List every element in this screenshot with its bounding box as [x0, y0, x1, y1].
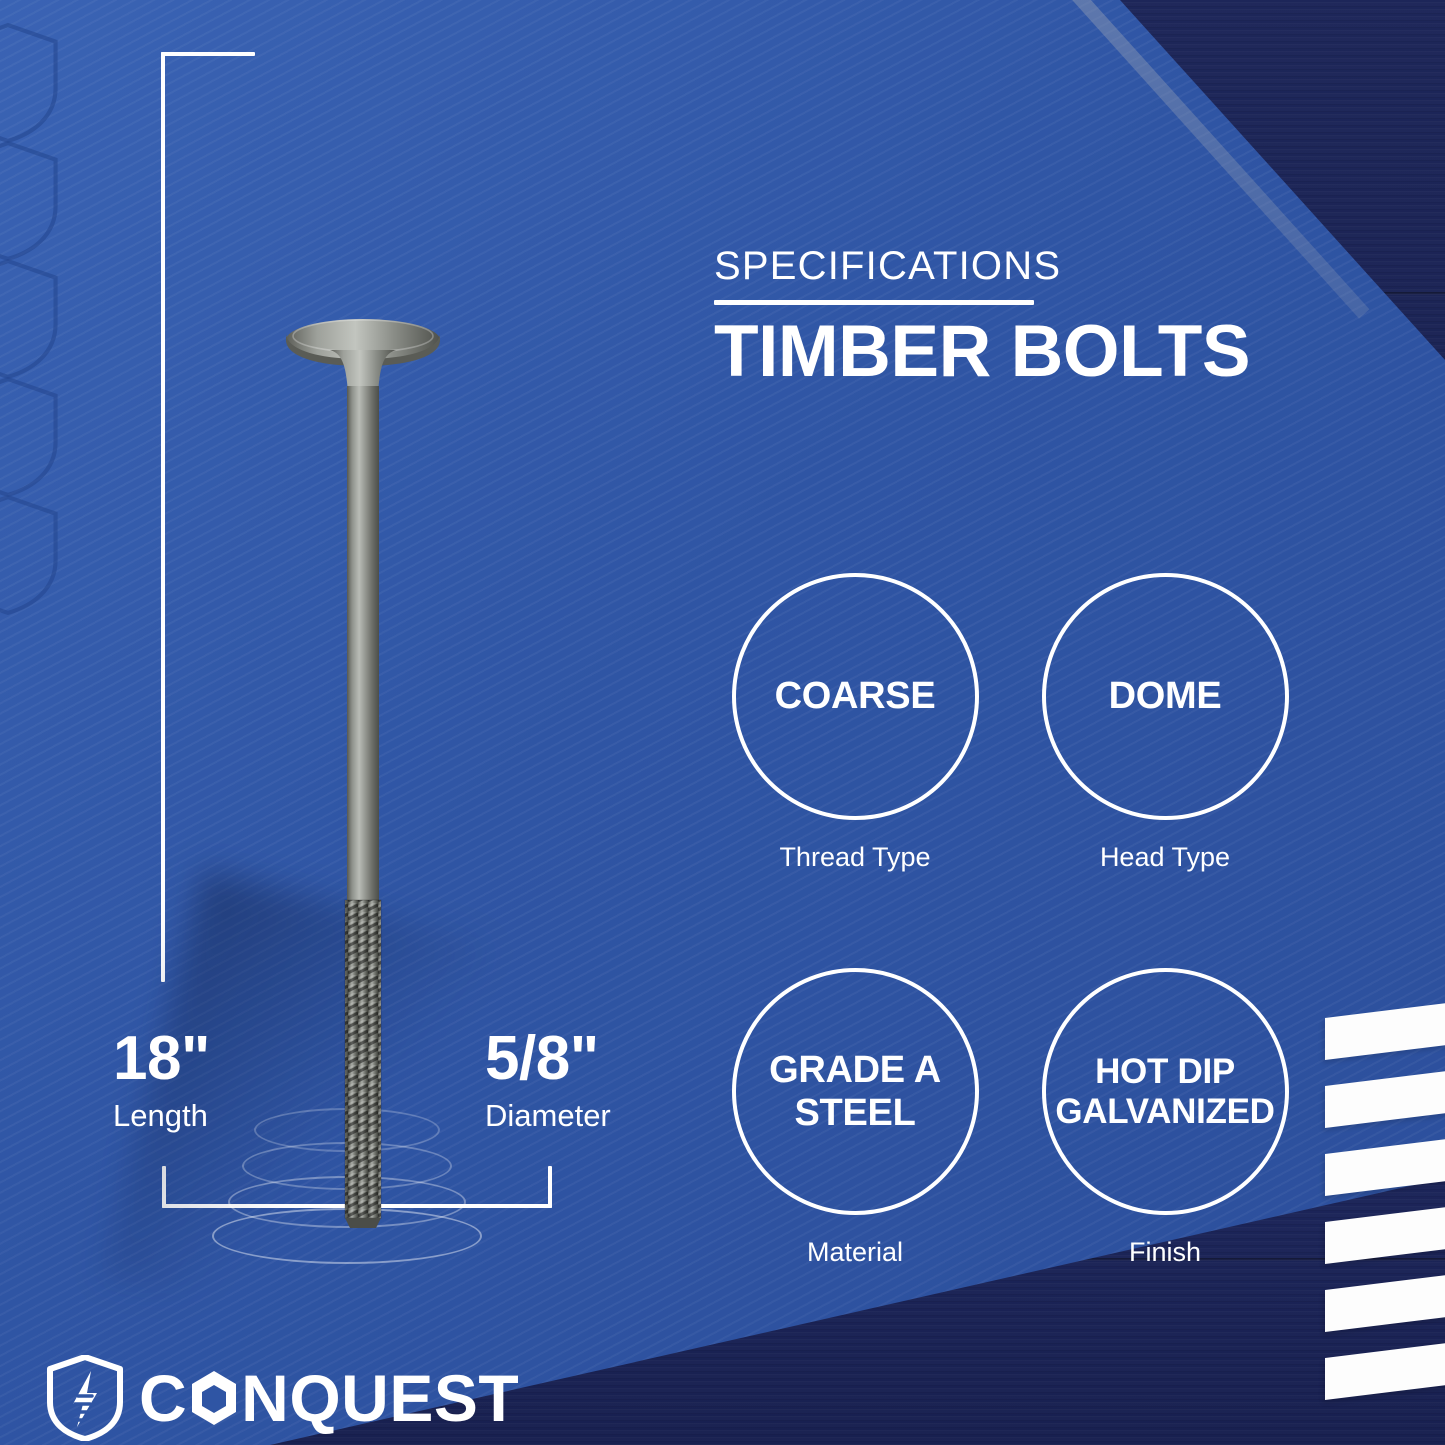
length-guide-line	[161, 52, 165, 982]
shield-watermark-icon	[0, 376, 60, 498]
spec-circle: COARSE	[732, 573, 979, 820]
length-value: 18"	[113, 1028, 210, 1090]
spec-value: DOME	[1099, 675, 1232, 718]
spec-circle: DOME	[1042, 573, 1289, 820]
brand-wordmark: C NQUEST	[139, 1365, 519, 1431]
kicker-text: SPECIFICATIONS	[714, 246, 1314, 286]
shield-watermark-icon	[0, 258, 60, 380]
header-block: SPECIFICATIONS TIMBER BOLTS	[714, 246, 1314, 389]
spec-thread-type: COARSE Thread Type	[700, 573, 1010, 873]
bolt-vector	[268, 300, 458, 1230]
spec-label: Material	[807, 1237, 903, 1268]
header-rule	[714, 300, 1034, 305]
shield-watermark-icon	[0, 494, 60, 616]
diameter-label: Diameter	[485, 1098, 611, 1134]
diameter-guide-tick-right	[548, 1166, 552, 1208]
spec-row: COARSE Thread Type DOME Head Type	[700, 573, 1320, 873]
spec-label: Finish	[1129, 1237, 1201, 1268]
spec-finish: HOT DIP GALVANIZED Finish	[1010, 968, 1320, 1268]
decorative-bar	[1325, 1002, 1445, 1060]
brand-logo: C NQUEST	[47, 1355, 519, 1441]
decorative-bar	[1325, 1274, 1445, 1332]
spec-material: GRADE A STEEL Material	[700, 968, 1010, 1268]
decorative-bars	[1325, 1010, 1445, 1430]
decorative-bar	[1325, 1138, 1445, 1196]
length-label: Length	[113, 1098, 210, 1134]
spec-circle: GRADE A STEEL	[732, 968, 979, 1215]
shield-watermark-icon	[0, 22, 60, 144]
spec-value: HOT DIP GALVANIZED	[1045, 1052, 1284, 1130]
hex-nut-icon	[188, 1369, 240, 1427]
length-guide-tick	[161, 52, 255, 56]
specifications-grid: COARSE Thread Type DOME Head Type GRADE …	[700, 573, 1320, 1268]
decorative-bar	[1325, 1070, 1445, 1128]
diameter-caption: 5/8" Diameter	[485, 1028, 611, 1134]
spec-value: COARSE	[765, 675, 946, 718]
brand-name-part2: NQUEST	[241, 1365, 519, 1431]
shield-bolt-icon	[47, 1355, 123, 1441]
spec-label: Thread Type	[779, 842, 930, 873]
page-title: TIMBER BOLTS	[714, 315, 1314, 389]
diameter-value: 5/8"	[485, 1028, 611, 1090]
length-caption: 18" Length	[113, 1028, 210, 1134]
brand-name-part1: C	[139, 1365, 187, 1431]
timber-bolt-illustration	[268, 300, 458, 1230]
shield-watermark-icon	[0, 140, 60, 262]
spec-row: GRADE A STEEL Material HOT DIP GALVANIZE…	[700, 968, 1320, 1268]
decorative-bar	[1325, 1342, 1445, 1400]
spec-value: GRADE A STEEL	[736, 1049, 975, 1134]
spec-head-type: DOME Head Type	[1010, 573, 1320, 873]
spec-circle: HOT DIP GALVANIZED	[1042, 968, 1289, 1215]
infographic-canvas: 18" Length 5/8" Diameter SPECIFICATIONS …	[0, 0, 1445, 1445]
spec-label: Head Type	[1100, 842, 1230, 873]
decorative-bar	[1325, 1206, 1445, 1264]
